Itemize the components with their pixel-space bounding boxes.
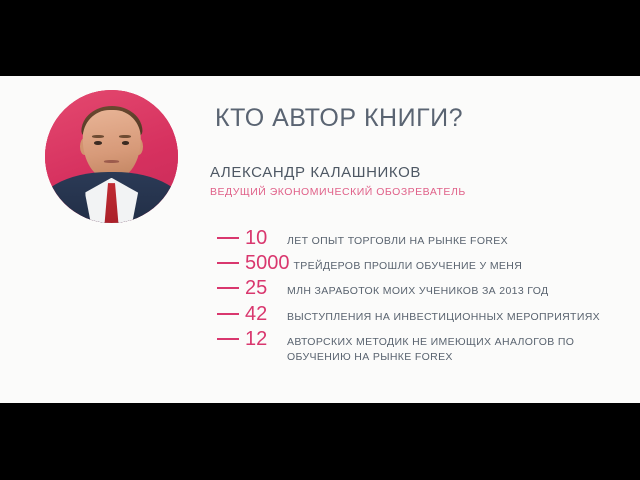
eye-left xyxy=(94,141,102,145)
stat-number: 10 xyxy=(245,228,283,248)
stat-row: 10ЛЕТ ОПЫТ ТОРГОВЛИ НА РЫНКЕ FOREX xyxy=(205,228,635,249)
stat-number: 25 xyxy=(245,278,283,298)
portrait-photo xyxy=(45,90,178,223)
stat-row: 42ВЫСТУПЛЕНИЯ НА ИНВЕСТИЦИОННЫХ МЕРОПРИЯ… xyxy=(205,304,635,325)
stat-row: 12АВТОРСКИХ МЕТОДИК НЕ ИМЕЮЩИХ АНАЛОГОВ … xyxy=(205,329,635,365)
author-portrait xyxy=(45,90,178,223)
stat-number: 12 xyxy=(245,329,283,349)
page-title: КТО АВТОР КНИГИ? xyxy=(215,104,463,133)
stat-text: ВЫСТУПЛЕНИЯ НА ИНВЕСТИЦИОННЫХ МЕРОПРИЯТИ… xyxy=(283,310,635,325)
letterbox-bar-bottom xyxy=(0,403,640,480)
stat-text: АВТОРСКИХ МЕТОДИК НЕ ИМЕЮЩИХ АНАЛОГОВ ПО… xyxy=(283,335,635,365)
bullet-dash-icon xyxy=(205,313,239,315)
eye-right xyxy=(122,141,130,145)
bullet-dash-icon xyxy=(205,338,239,340)
letterbox-bar-top xyxy=(0,0,640,76)
bullet-dash-icon xyxy=(205,287,239,289)
bullet-dash-icon xyxy=(205,237,239,239)
stat-text: МЛН ЗАРАБОТОК МОИХ УЧЕНИКОВ ЗА 2013 ГОД xyxy=(283,284,635,299)
stat-number: 42 xyxy=(245,304,283,324)
stat-row: 5000ТРЕЙДЕРОВ ПРОШЛИ ОБУЧЕНИЕ У МЕНЯ xyxy=(205,253,635,274)
stat-row: 25МЛН ЗАРАБОТОК МОИХ УЧЕНИКОВ ЗА 2013 ГО… xyxy=(205,278,635,299)
head-shape xyxy=(82,110,141,179)
video-slide: КТО АВТОР КНИГИ? АЛЕКСАНДР КАЛАШНИКОВ ВЕ… xyxy=(0,0,640,480)
stats-list: 10ЛЕТ ОПЫТ ТОРГОВЛИ НА РЫНКЕ FOREX5000ТР… xyxy=(205,228,635,369)
stat-number: 5000 xyxy=(245,253,290,273)
mouth-shape xyxy=(104,160,120,163)
bullet-dash-icon xyxy=(205,262,239,264)
stat-text: ЛЕТ ОПЫТ ТОРГОВЛИ НА РЫНКЕ FOREX xyxy=(283,234,635,249)
author-role: ВЕДУЩИЙ ЭКОНОМИЧЕСКИЙ ОБОЗРЕВАТЕЛЬ xyxy=(210,186,466,198)
slide-stage: КТО АВТОР КНИГИ? АЛЕКСАНДР КАЛАШНИКОВ ВЕ… xyxy=(0,76,640,403)
author-name: АЛЕКСАНДР КАЛАШНИКОВ xyxy=(210,164,421,181)
stat-text: ТРЕЙДЕРОВ ПРОШЛИ ОБУЧЕНИЕ У МЕНЯ xyxy=(290,259,636,274)
